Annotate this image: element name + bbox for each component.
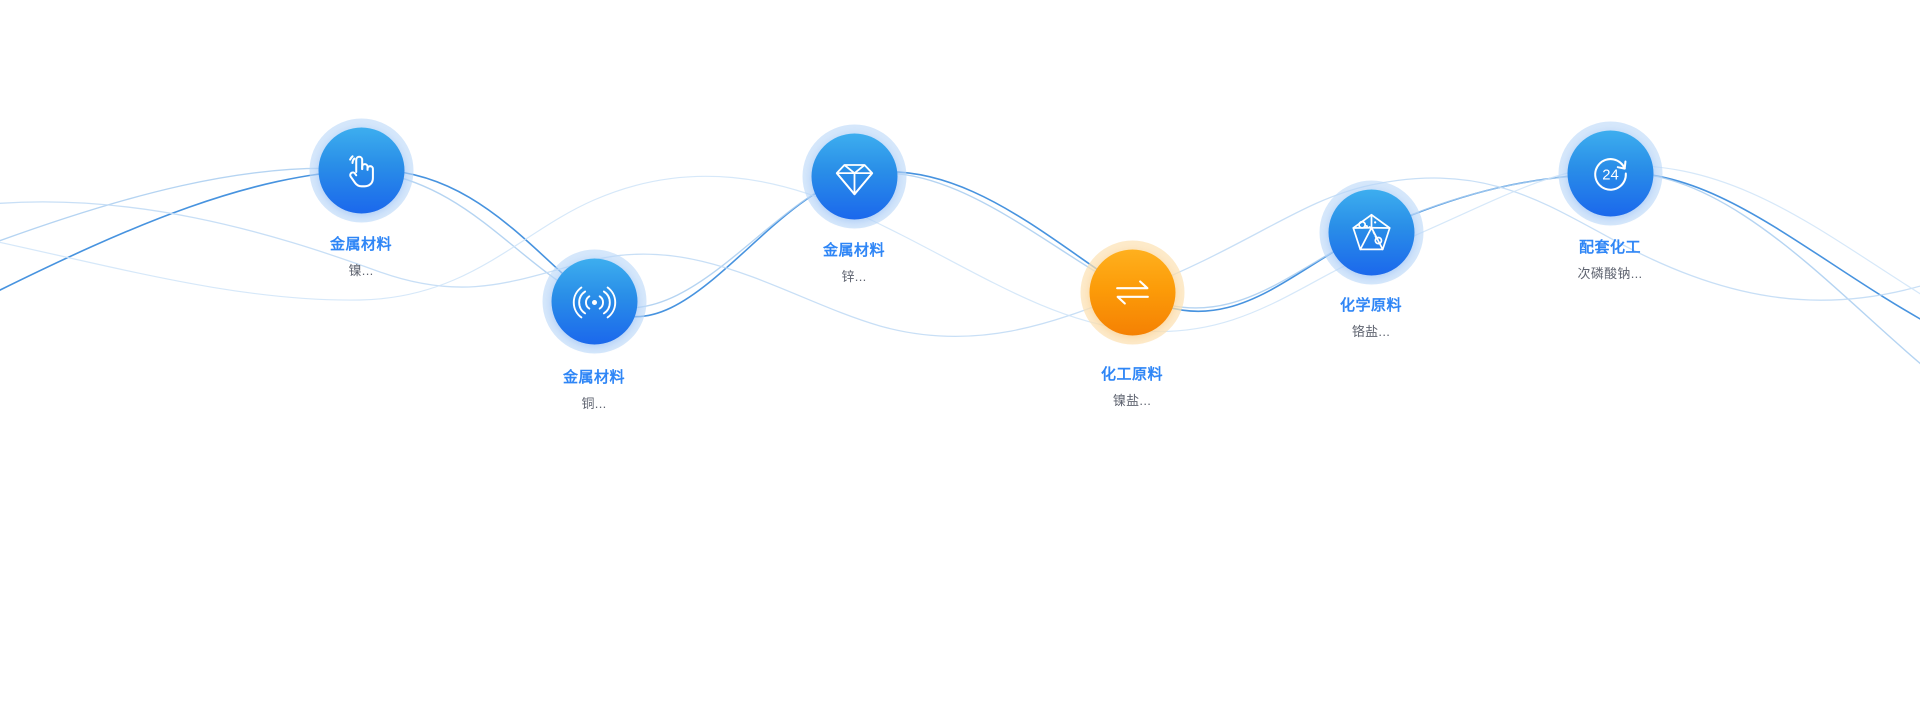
node-subtitle[interactable]: 次磷酸钠... [1578,265,1643,283]
node-2-radar-signal[interactable] [594,301,595,302]
node-subtitle[interactable]: 锌... [823,268,885,286]
node-subtitle[interactable]: 镍盐... [1101,392,1163,410]
node-circle[interactable] [318,127,404,213]
node-title[interactable]: 化学原料 [1340,296,1402,316]
reversible-reaction-icon [1109,269,1155,315]
radar-signal-icon [571,278,617,324]
node-circle[interactable] [1089,249,1175,335]
node-label-group: 化工原料镍盐... [1101,365,1163,410]
node-title[interactable]: 配套化工 [1578,238,1643,258]
node-subtitle[interactable]: 镍... [330,262,392,280]
node-4-reversible-reaction[interactable] [1132,292,1133,293]
node-label-group: 金属材料锌... [823,241,885,286]
click-hand-icon [338,147,384,193]
node-circle[interactable] [1567,130,1653,216]
node-1-click-hand[interactable] [361,170,362,171]
node-title[interactable]: 化工原料 [1101,365,1163,385]
node-circle[interactable] [811,133,897,219]
supply-chain-diagram: 金属材料镍...金属材料铜...金属材料锌...化工原料镍盐...化学原料铬盐.… [0,0,1920,718]
node-title[interactable]: 金属材料 [823,241,885,261]
service-24h-icon [1587,150,1633,196]
node-3-diamond[interactable] [854,176,855,177]
molecule-pentagon-icon [1348,209,1394,255]
node-title[interactable]: 金属材料 [330,235,392,255]
node-label-group: 金属材料铜... [563,368,625,413]
node-5-molecule-pentagon[interactable] [1371,232,1372,233]
node-label-group: 配套化工次磷酸钠... [1578,238,1643,283]
node-circle[interactable] [1328,189,1414,275]
node-subtitle[interactable]: 铬盐... [1340,323,1402,341]
node-subtitle[interactable]: 铜... [563,395,625,413]
diamond-icon [831,153,877,199]
node-label-group: 化学原料铬盐... [1340,296,1402,341]
node-title[interactable]: 金属材料 [563,368,625,388]
node-circle[interactable] [551,258,637,344]
node-6-service-24h[interactable] [1610,173,1611,174]
node-label-group: 金属材料镍... [330,235,392,280]
background-wave-layer [0,0,1920,718]
